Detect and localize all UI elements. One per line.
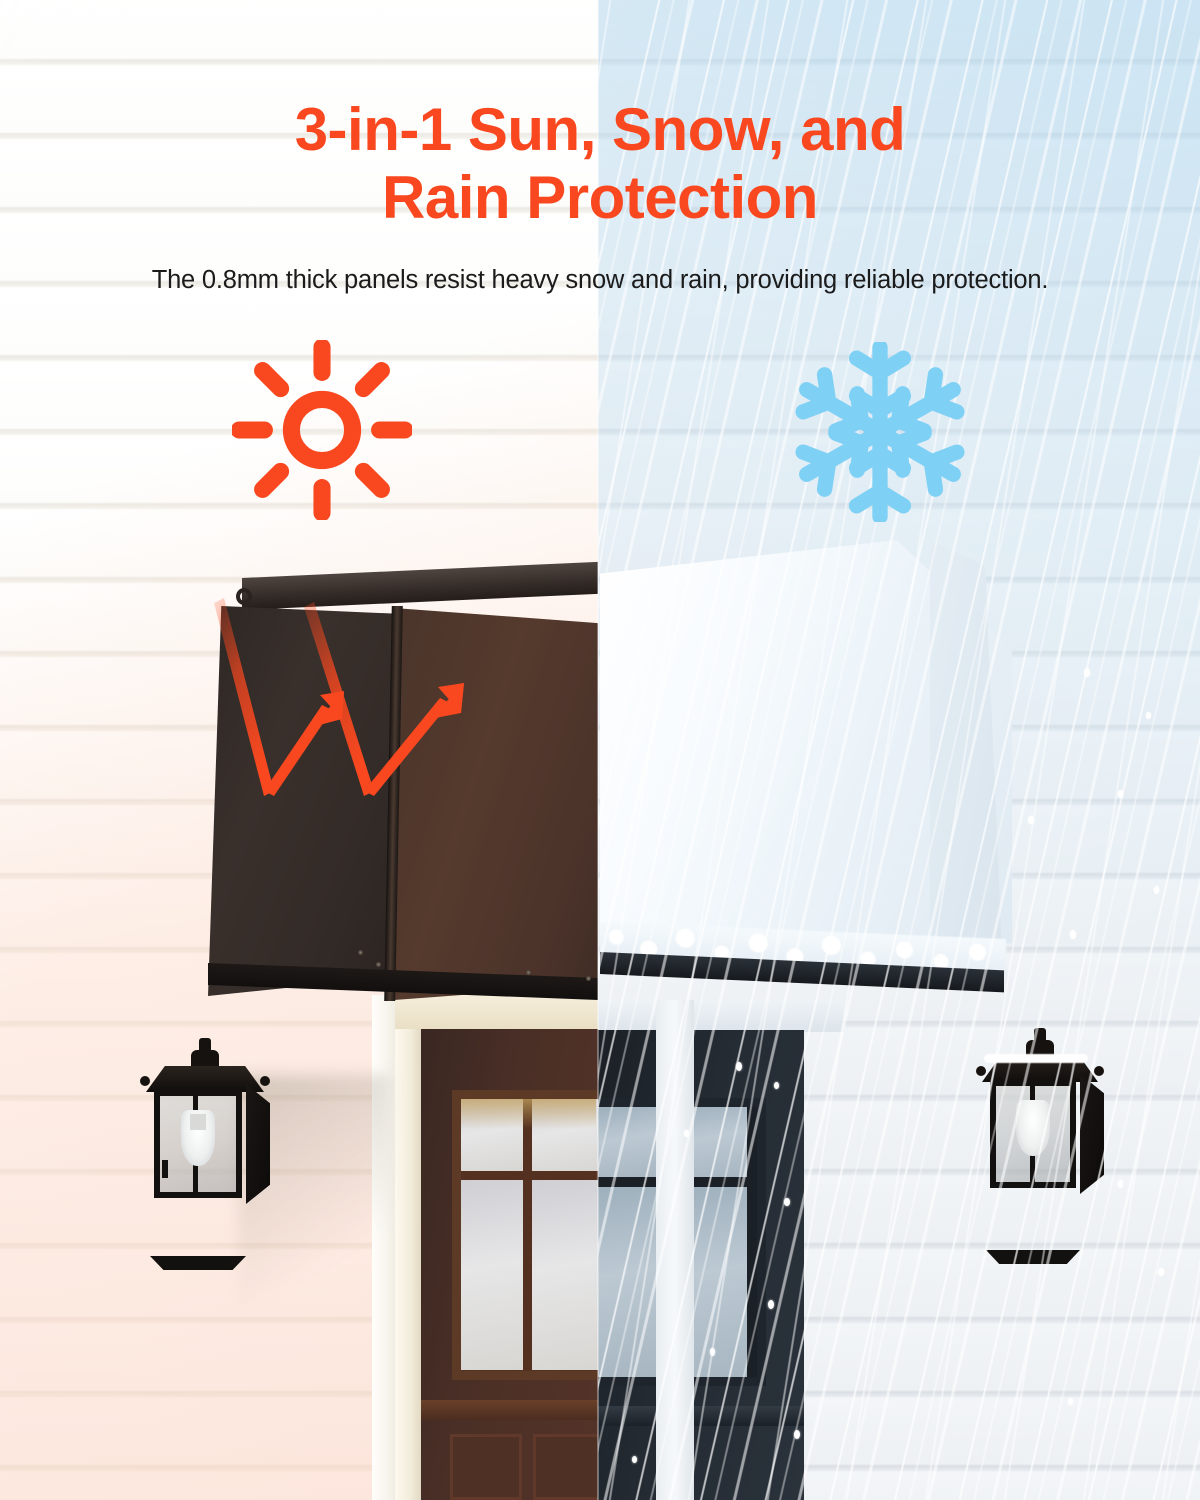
door-pane bbox=[532, 1180, 598, 1370]
door-jamb-left bbox=[395, 995, 421, 1500]
headline-line-2: Rain Protection bbox=[0, 164, 1200, 232]
door-pane bbox=[461, 1180, 523, 1370]
headline: 3-in-1 Sun, Snow, and Rain Protection bbox=[0, 96, 1200, 232]
lantern-corner-finial bbox=[260, 1076, 270, 1086]
product-feature-banner: 3-in-1 Sun, Snow, and Rain Protection Th… bbox=[0, 0, 1200, 1500]
subheadline: The 0.8mm thick panels resist heavy snow… bbox=[0, 266, 1200, 295]
awning-screw bbox=[358, 950, 363, 955]
lantern-base bbox=[150, 1256, 246, 1270]
door-mid-rail-left bbox=[421, 1400, 598, 1420]
sun-icon bbox=[232, 340, 412, 520]
ray-arrow-1 bbox=[214, 598, 344, 796]
reflected-light-arrows bbox=[208, 595, 598, 825]
lantern-corner-finial bbox=[140, 1076, 150, 1086]
headline-line-1: 3-in-1 Sun, Snow, and bbox=[295, 96, 906, 163]
glass-reflection bbox=[461, 1099, 596, 1129]
door-lower-panel bbox=[533, 1434, 598, 1500]
door-glass-grid-left bbox=[452, 1090, 598, 1380]
snowflake-icon bbox=[790, 342, 970, 522]
wall-lantern-left bbox=[140, 1038, 270, 1270]
awning-screw bbox=[376, 962, 381, 967]
lantern-socket bbox=[190, 1114, 206, 1130]
lantern-bulb bbox=[181, 1110, 215, 1166]
awning-screw bbox=[526, 970, 531, 975]
lantern-glass-cage bbox=[154, 1090, 242, 1198]
door-lower-panel bbox=[450, 1434, 522, 1500]
lantern-side-panel bbox=[246, 1084, 270, 1204]
awning-screw bbox=[586, 976, 591, 981]
lantern-pull-switch bbox=[162, 1160, 168, 1178]
